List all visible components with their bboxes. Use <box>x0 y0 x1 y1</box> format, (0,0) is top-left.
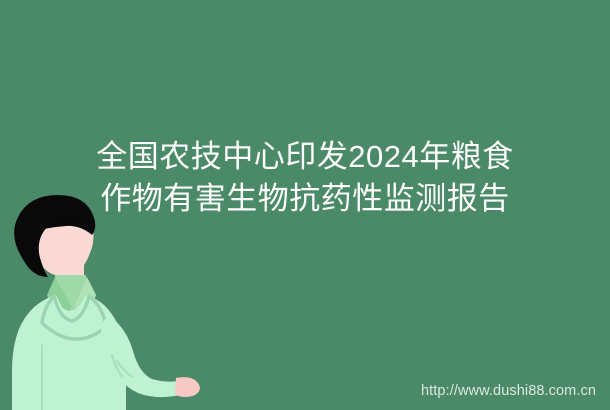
person-illustration-graphic <box>0 195 210 410</box>
article-cover-banner: 全国农技中心印发2024年粮食 作物有害生物抗药性监测报告 <box>0 0 610 410</box>
page-title-line-1: 全国农技中心印发2024年粮食 <box>0 136 610 178</box>
hand-shape <box>175 377 200 397</box>
watermark-url: http://www.dushi88.com.cn <box>421 383 596 399</box>
person-illustration <box>0 195 210 410</box>
